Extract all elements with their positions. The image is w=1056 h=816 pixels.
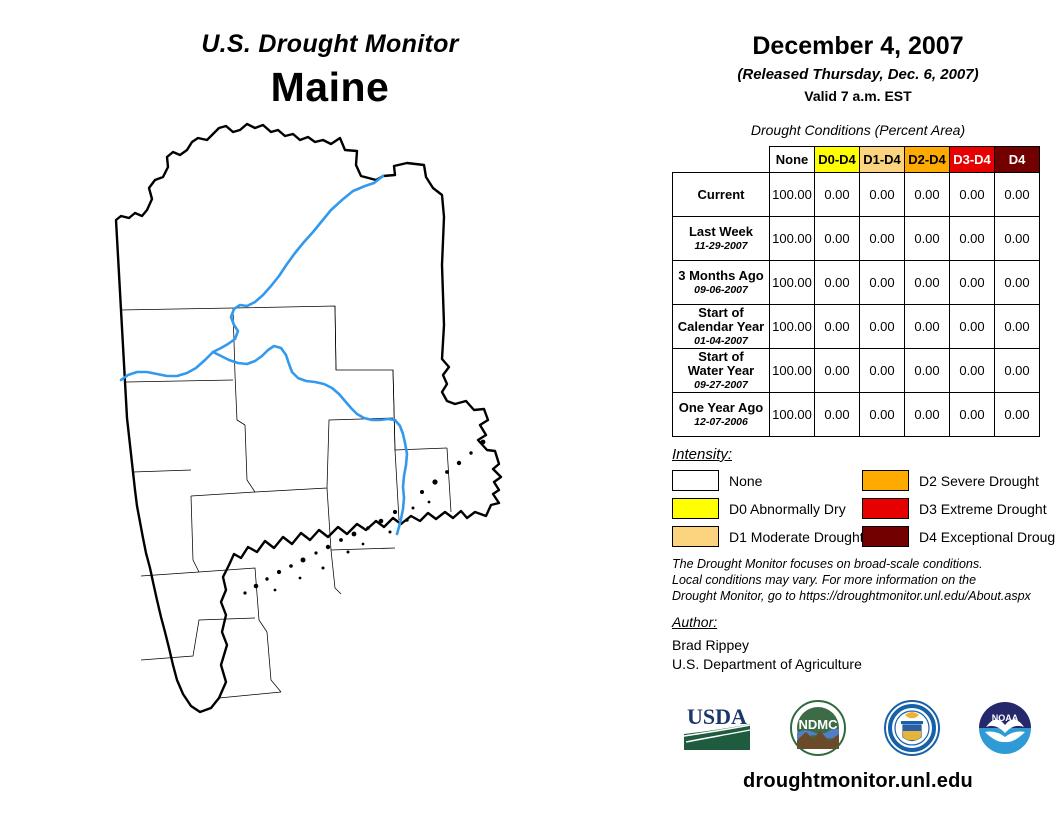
legend-label: D1 Moderate Drought: [729, 529, 864, 545]
author-organization: U.S. Department of Agriculture: [672, 656, 862, 672]
column-header-d2-d4: D2-D4: [905, 147, 950, 173]
legend-swatch: [862, 526, 909, 547]
cell-d1-d4: 0.00: [860, 305, 905, 349]
cell-d3-d4: 0.00: [950, 217, 995, 261]
state-title: Maine: [0, 64, 660, 111]
row-date: 09-06-2007: [673, 283, 769, 297]
cell-d4: 0.00: [995, 393, 1040, 437]
author-label: Author:: [672, 614, 717, 630]
legend-label: D3 Extreme Drought: [919, 501, 1047, 517]
usda-logo[interactable]: USDA: [680, 702, 754, 754]
cell-d4: 0.00: [995, 173, 1040, 217]
row-label: 3 Months Ago09-06-2007: [673, 261, 770, 305]
cell-d1-d4: 0.00: [860, 217, 905, 261]
cell-d3-d4: 0.00: [950, 305, 995, 349]
cell-d1-d4: 0.00: [860, 261, 905, 305]
legend-column-right: D2 Severe DroughtD3 Extreme DroughtD4 Ex…: [862, 468, 1052, 552]
column-header-none: None: [770, 147, 815, 173]
valid-time: Valid 7 a.m. EST: [660, 88, 1056, 104]
cell-d1-d4: 0.00: [860, 349, 905, 393]
column-header-d3-d4: D3-D4: [950, 147, 995, 173]
page-title: U.S. Drought Monitor: [0, 30, 660, 59]
report-date: December 4, 2007: [660, 32, 1056, 61]
cell-d0-d4: 0.00: [815, 173, 860, 217]
table-row: One Year Ago12-07-2006100.000.000.000.00…: [673, 393, 1040, 437]
legend-label: D4 Exceptional Drought: [919, 529, 1056, 545]
legend-item: D4 Exceptional Drought: [862, 524, 1052, 549]
column-header-d4: D4: [995, 147, 1040, 173]
svg-text:NOAA: NOAA: [992, 713, 1019, 723]
disclaimer-line-1: The Drought Monitor focuses on broad-sca…: [672, 556, 1052, 572]
cell-d4: 0.00: [995, 217, 1040, 261]
cell-d3-d4: 0.00: [950, 261, 995, 305]
website-url[interactable]: droughtmonitor.unl.edu: [660, 770, 1056, 793]
cell-d0-d4: 0.00: [815, 261, 860, 305]
cell-d2-d4: 0.00: [905, 393, 950, 437]
noaa-logo[interactable]: NOAA: [976, 699, 1034, 757]
legend-swatch: [862, 470, 909, 491]
cell-d3-d4: 0.00: [950, 173, 995, 217]
column-header-d0-d4: D0-D4: [815, 147, 860, 173]
row-label: Current: [673, 173, 770, 217]
legend-item: None: [672, 468, 862, 493]
table-row: 3 Months Ago09-06-2007100.000.000.000.00…: [673, 261, 1040, 305]
legend-item: D0 Abnormally Dry: [672, 496, 862, 521]
table-row: Last Week11-29-2007100.000.000.000.000.0…: [673, 217, 1040, 261]
header-blank-cell: [673, 147, 770, 173]
commerce-seal-logo[interactable]: [883, 699, 941, 757]
cell-d2-d4: 0.00: [905, 261, 950, 305]
legend-swatch: [672, 498, 719, 519]
cell-d3-d4: 0.00: [950, 393, 995, 437]
legend-label: None: [729, 473, 762, 489]
cell-d4: 0.00: [995, 349, 1040, 393]
table-header-row: NoneD0-D4D1-D4D2-D4D3-D4D4: [673, 147, 1040, 173]
cell-none: 100.00: [770, 173, 815, 217]
agency-logos: USDA NDMC NOAA: [662, 692, 1052, 764]
svg-text:NDMC: NDMC: [799, 717, 839, 732]
cell-d2-d4: 0.00: [905, 173, 950, 217]
release-date: (Released Thursday, Dec. 6, 2007): [660, 66, 1056, 83]
cell-d2-d4: 0.00: [905, 217, 950, 261]
table-row: Start ofWater Year09-27-2007100.000.000.…: [673, 349, 1040, 393]
row-label: Start ofWater Year09-27-2007: [673, 349, 770, 393]
row-date: 01-04-2007: [673, 334, 769, 348]
cell-d2-d4: 0.00: [905, 349, 950, 393]
legend-item: D2 Severe Drought: [862, 468, 1052, 493]
state-outline: [116, 124, 501, 712]
cell-d1-d4: 0.00: [860, 173, 905, 217]
cell-none: 100.00: [770, 393, 815, 437]
cell-none: 100.00: [770, 349, 815, 393]
row-date: 12-07-2006: [673, 415, 769, 429]
cell-d0-d4: 0.00: [815, 393, 860, 437]
column-header-d1-d4: D1-D4: [860, 147, 905, 173]
row-label: Start ofCalendar Year01-04-2007: [673, 305, 770, 349]
legend-item: D3 Extreme Drought: [862, 496, 1052, 521]
svg-text:USDA: USDA: [687, 704, 747, 729]
author-name: Brad Rippey: [672, 637, 749, 653]
legend-column-left: NoneD0 Abnormally DryD1 Moderate Drought: [672, 468, 862, 552]
cell-none: 100.00: [770, 217, 815, 261]
legend-label: D0 Abnormally Dry: [729, 501, 846, 517]
table-body: Current100.000.000.000.000.000.00Last We…: [673, 173, 1040, 437]
intensity-legend-title: Intensity:: [672, 446, 732, 463]
ndmc-logo[interactable]: NDMC: [789, 699, 847, 757]
cell-d0-d4: 0.00: [815, 305, 860, 349]
cell-d3-d4: 0.00: [950, 349, 995, 393]
cell-d0-d4: 0.00: [815, 349, 860, 393]
row-label: Last Week11-29-2007: [673, 217, 770, 261]
cell-d0-d4: 0.00: [815, 217, 860, 261]
table-row: Start ofCalendar Year01-04-2007100.000.0…: [673, 305, 1040, 349]
drought-conditions-table: NoneD0-D4D1-D4D2-D4D3-D4D4 Current100.00…: [672, 146, 1040, 437]
cell-d2-d4: 0.00: [905, 305, 950, 349]
cell-none: 100.00: [770, 305, 815, 349]
legend-label: D2 Severe Drought: [919, 473, 1039, 489]
cell-none: 100.00: [770, 261, 815, 305]
cell-d4: 0.00: [995, 261, 1040, 305]
row-date: 09-27-2007: [673, 378, 769, 392]
cell-d1-d4: 0.00: [860, 393, 905, 437]
maine-drought-map[interactable]: [95, 120, 615, 770]
legend-swatch: [672, 470, 719, 491]
row-date: 11-29-2007: [673, 239, 769, 253]
disclaimer-line-3: Drought Monitor, go to https://droughtmo…: [672, 588, 1052, 604]
cell-d4: 0.00: [995, 305, 1040, 349]
legend-swatch: [862, 498, 909, 519]
legend-swatch: [672, 526, 719, 547]
table-caption: Drought Conditions (Percent Area): [660, 122, 1056, 138]
legend-item: D1 Moderate Drought: [672, 524, 862, 549]
row-label: One Year Ago12-07-2006: [673, 393, 770, 437]
table-row: Current100.000.000.000.000.000.00: [673, 173, 1040, 217]
disclaimer-text: The Drought Monitor focuses on broad-sca…: [672, 556, 1052, 604]
disclaimer-line-2: Local conditions may vary. For more info…: [672, 572, 1052, 588]
